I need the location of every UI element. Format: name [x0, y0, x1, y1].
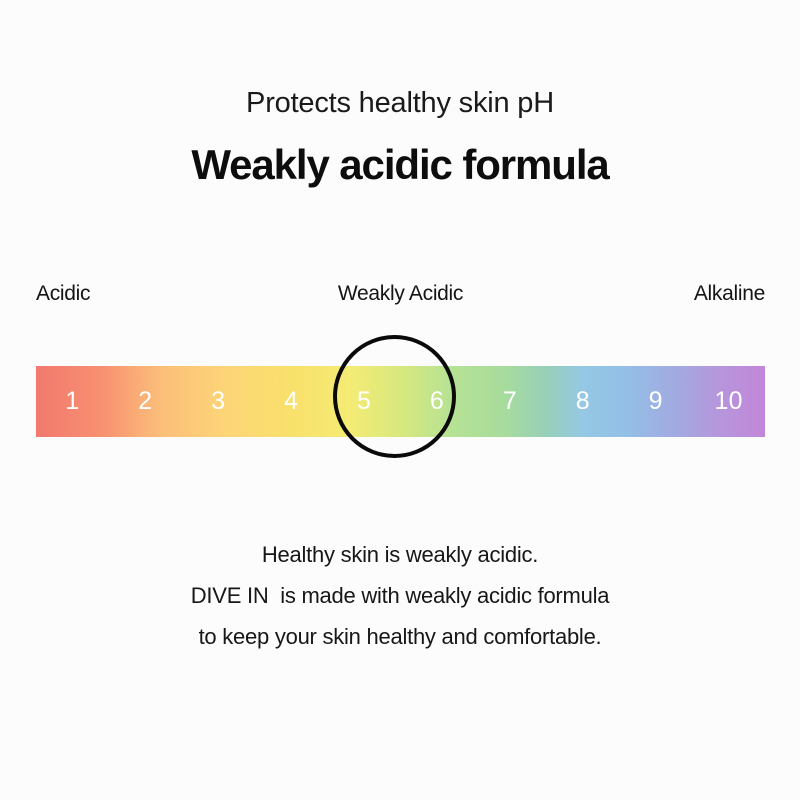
- zone-label-weakly-acidic: Weakly Acidic: [338, 282, 463, 306]
- ph-zone-labels: Acidic Weakly Acidic Alkaline: [36, 282, 765, 310]
- ph-number-row: 1 2 3 4 5 6 7 8 9 10: [36, 366, 765, 437]
- ph-number-9: 9: [619, 366, 692, 437]
- ph-number-10: 10: [692, 366, 765, 437]
- ph-number-4: 4: [255, 366, 328, 437]
- body-line-3: to keep your skin healthy and comfortabl…: [0, 626, 800, 648]
- ph-scale-infographic: Protects healthy skin pH Weakly acidic f…: [0, 0, 800, 800]
- body-line-1: Healthy skin is weakly acidic.: [0, 544, 800, 566]
- ph-number-7: 7: [473, 366, 546, 437]
- body-line-2: DIVE IN is made with weakly acidic formu…: [0, 585, 800, 607]
- ph-gradient-bar: 1 2 3 4 5 6 7 8 9 10: [36, 366, 765, 437]
- page-title: Weakly acidic formula: [0, 142, 800, 188]
- heading-block: Protects healthy skin pH Weakly acidic f…: [0, 88, 800, 188]
- body-copy: Healthy skin is weakly acidic. DIVE IN i…: [0, 544, 800, 648]
- zone-label-alkaline: Alkaline: [694, 282, 765, 306]
- ph-number-6: 6: [401, 366, 474, 437]
- eyebrow-text: Protects healthy skin pH: [0, 88, 800, 120]
- ph-number-5: 5: [328, 366, 401, 437]
- ph-number-8: 8: [546, 366, 619, 437]
- ph-number-2: 2: [109, 366, 182, 437]
- zone-label-acidic: Acidic: [36, 282, 90, 306]
- ph-number-3: 3: [182, 366, 255, 437]
- ph-number-1: 1: [36, 366, 109, 437]
